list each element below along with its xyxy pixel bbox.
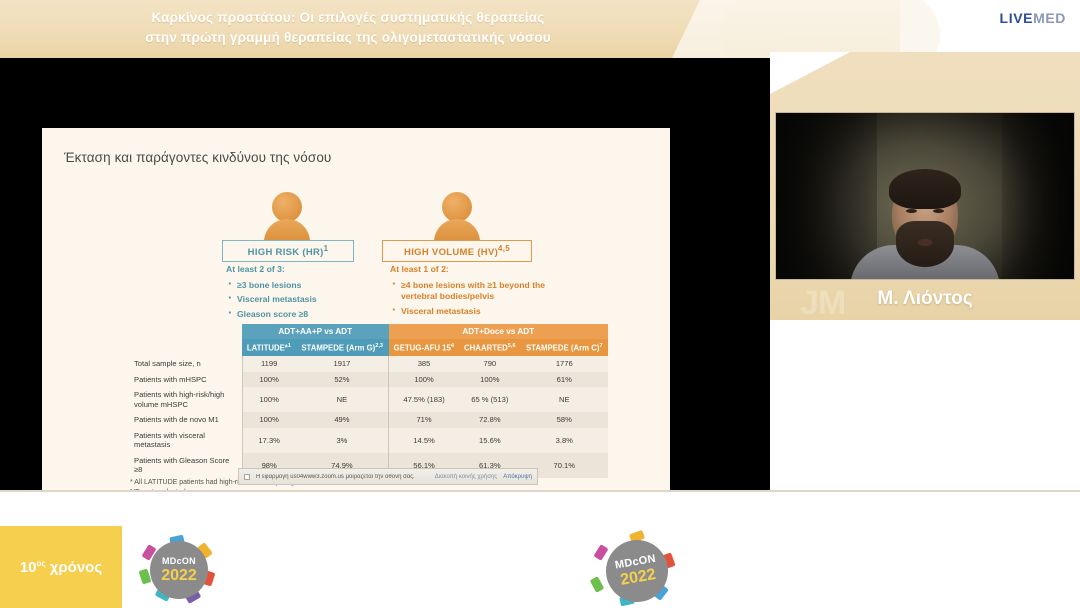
column-header-chaarted-label: CHAARTED xyxy=(464,344,508,353)
logo-tick-icon xyxy=(593,544,608,561)
table-cell: 1776 xyxy=(521,356,608,372)
column-header-chaarted-sup: 5,6 xyxy=(508,343,516,349)
event-banner: 10ος χρόνος MDcON 2022 MULTIDISCIPLINARY… xyxy=(0,526,1080,608)
person-head-icon xyxy=(442,192,472,222)
column-header-getug-afu-label: GETUG-AFU 15 xyxy=(394,344,451,353)
table-cell: 100% xyxy=(389,372,460,388)
presentation-title: Καρκίνος προστάτου: Οι επιλογές συστηματ… xyxy=(98,8,598,48)
mdcon-badge-name: MDcON xyxy=(162,557,196,566)
app-root: Καρκίνος προστάτου: Οι επιλογές συστηματ… xyxy=(0,0,1080,608)
table-cell: 1917 xyxy=(296,356,389,372)
table-cell: 49% xyxy=(296,412,389,428)
high-risk-criteria-list: ≥3 bone lesions Visceral metastasis Glea… xyxy=(226,280,376,321)
column-header-stampede-g-label: STAMPEDE (Arm G) xyxy=(301,344,375,353)
column-header-stampede-c: STAMPEDE (Arm C)7 xyxy=(521,339,608,356)
list-item: ≥4 bone lesions with ≥1 beyond the verte… xyxy=(390,280,555,303)
anniversary-word: χρόνος xyxy=(46,559,103,576)
table-cell: 385 xyxy=(389,356,460,372)
table-cell: 52% xyxy=(296,372,389,388)
high-risk-tag-sup: 1 xyxy=(324,244,329,253)
table-cell: 65 % (513) xyxy=(459,387,520,412)
high-volume-criteria: At least 1 of 2: ≥4 bone lesions with ≥1… xyxy=(390,264,555,320)
video-shadow-left xyxy=(776,113,877,279)
high-volume-criteria-list: ≥4 bone lesions with ≥1 beyond the verte… xyxy=(390,280,555,318)
table-cell: 72.8% xyxy=(459,412,520,428)
anniversary-number: 10 xyxy=(20,559,37,576)
livemed-logo-live: LIVE xyxy=(1000,10,1034,26)
table-row: Total sample size, n 1199 1917 385 790 1… xyxy=(130,356,608,372)
table-cell: 100% xyxy=(242,412,296,428)
table-cell: 58% xyxy=(521,412,608,428)
table-cell: 14.5% xyxy=(389,428,460,453)
anniversary-text: 10ος χρόνος xyxy=(20,559,102,576)
person-head-icon xyxy=(272,192,302,222)
table-cell: 100% xyxy=(459,372,520,388)
top-header-band: Καρκίνος προστάτου: Οι επιλογές συστηματ… xyxy=(0,0,1080,58)
table-cell: 1199 xyxy=(242,356,296,372)
column-header-getug-afu-sup: 4 xyxy=(451,343,454,349)
row-label: Patients with high-risk/high volume mHSP… xyxy=(130,387,242,412)
column-header-getug-afu: GETUG-AFU 154 xyxy=(389,339,460,356)
table-corner-cell-2 xyxy=(130,339,242,356)
table-row: Patients with visceral metastasis 17.3% … xyxy=(130,428,608,453)
table-row: Patients with mHSPC 100% 52% 100% 100% 6… xyxy=(130,372,608,388)
mdcon-badge-year: 2022 xyxy=(619,566,657,588)
stop-sharing-button[interactable]: Διακοπή κοινής χρήσης xyxy=(435,474,497,480)
group-header-adt-doce: ADT+Doce vs ADT xyxy=(389,324,608,339)
column-header-latitude: LATITUDE*1 xyxy=(242,339,296,356)
high-risk-tag: HIGH RISK (HR)1 xyxy=(222,240,354,262)
speaker-hair xyxy=(889,169,961,209)
comparison-table: ADT+AA+P vs ADT ADT+Doce vs ADT LATITUDE… xyxy=(130,324,608,478)
list-item: Gleason score ≥8 xyxy=(226,309,376,321)
high-volume-tag-sup: 4,5 xyxy=(498,244,510,253)
video-shadow-right xyxy=(1002,113,1074,279)
speaker-eye-left xyxy=(906,209,917,213)
table-cell: NE xyxy=(521,387,608,412)
high-risk-tag-label: HIGH RISK (HR) xyxy=(248,247,324,258)
row-label: Total sample size, n xyxy=(130,356,242,372)
speaker-name-label: Μ. Λιόντος xyxy=(775,288,1075,310)
table-sub-header-row: LATITUDE*1 STAMPEDE (Arm G)2,3 GETUG-AFU… xyxy=(130,339,608,356)
high-volume-person-icon xyxy=(434,192,480,243)
presentation-title-line-2: στην πρώτη γραμμή θεραπείας της ολιγομετ… xyxy=(98,28,598,48)
mdcon-logo-right: MDcON 2022 xyxy=(590,534,688,606)
presentation-title-line-1: Καρκίνος προστάτου: Οι επιλογές συστηματ… xyxy=(98,8,598,28)
speaker-video-tile[interactable] xyxy=(775,112,1075,280)
group-header-adt-aa-p: ADT+AA+P vs ADT xyxy=(242,324,389,339)
logo-tick-icon xyxy=(590,576,605,593)
table-cell: 17.3% xyxy=(242,428,296,453)
speaker-eye-right xyxy=(933,209,944,213)
high-risk-person-icon xyxy=(264,192,310,243)
hide-bar-button[interactable]: Απόκρυψη xyxy=(503,474,532,480)
list-item: Visceral metastasis xyxy=(390,306,555,318)
table-head: ADT+AA+P vs ADT ADT+Doce vs ADT LATITUDE… xyxy=(130,324,608,356)
table-cell: NE xyxy=(296,387,389,412)
anniversary-badge: 10ος χρόνος xyxy=(0,526,122,608)
anniversary-ordinal: ος xyxy=(37,559,46,568)
row-label: Patients with de novo M1 xyxy=(130,412,242,428)
slide-title: Έκταση και παράγοντες κινδύνου της νόσου xyxy=(64,150,331,165)
table-cell: 100% xyxy=(242,387,296,412)
table-row: Patients with high-risk/high volume mHSP… xyxy=(130,387,608,412)
share-indicator-icon xyxy=(244,474,250,480)
livemed-logo-med: MED xyxy=(1033,10,1066,26)
table-cell: 3% xyxy=(296,428,389,453)
table-cell: 790 xyxy=(459,356,520,372)
speaker-mouth xyxy=(918,239,933,246)
high-volume-tag: HIGH VOLUME (HV)4,5 xyxy=(382,240,532,262)
table-corner-cell xyxy=(130,324,242,339)
list-item: ≥3 bone lesions xyxy=(226,280,376,292)
screenshare-viewport: Έκταση και παράγοντες κινδύνου της νόσου… xyxy=(0,58,770,490)
separator-band xyxy=(0,490,1080,526)
zoom-screenshare-bar: Η εφαρμογή us04www3.zoom.us μοιράζεται τ… xyxy=(238,468,538,485)
column-header-chaarted: CHAARTED5,6 xyxy=(459,339,520,356)
table-group-header-row: ADT+AA+P vs ADT ADT+Doce vs ADT xyxy=(130,324,608,339)
high-risk-criteria: At least 2 of 3: ≥3 bone lesions Viscera… xyxy=(226,264,376,323)
table-cell: 15.6% xyxy=(459,428,520,453)
table-cell: 61% xyxy=(521,372,608,388)
column-header-stampede-c-label: STAMPEDE (Arm C) xyxy=(526,344,600,353)
table-cell: 47.5% (183) xyxy=(389,387,460,412)
list-item: Visceral metastasis xyxy=(226,294,376,306)
high-volume-tag-label: HIGH VOLUME (HV) xyxy=(404,247,498,258)
column-header-latitude-sup: 1 xyxy=(288,343,291,349)
table-cell: 100% xyxy=(242,372,296,388)
mdcon-logo-left: MDcON 2022 xyxy=(140,538,218,600)
row-label: Patients with visceral metastasis xyxy=(130,428,242,453)
separator-line xyxy=(0,490,1080,492)
table-body: Total sample size, n 1199 1917 385 790 1… xyxy=(130,356,608,478)
row-label: Patients with mHSPC xyxy=(130,372,242,388)
column-header-stampede-c-sup: 7 xyxy=(599,343,602,349)
column-header-stampede-g: STAMPEDE (Arm G)2,3 xyxy=(296,339,389,356)
table-row: Patients with de novo M1 100% 49% 71% 72… xyxy=(130,412,608,428)
table-cell: 3.8% xyxy=(521,428,608,453)
high-volume-criteria-heading: At least 1 of 2: xyxy=(390,264,555,276)
high-risk-criteria-heading: At least 2 of 3: xyxy=(226,264,376,276)
row-label: Patients with Gleason Score ≥8 xyxy=(130,453,242,478)
mdcon-badge-year: 2022 xyxy=(161,568,197,584)
livemed-logo: LIVEMED xyxy=(1000,10,1066,26)
column-header-latitude-label: LATITUDE* xyxy=(247,344,288,353)
column-header-stampede-g-sup: 2,3 xyxy=(375,343,383,349)
mdcon-badge-left: MDcON 2022 xyxy=(150,541,208,599)
share-message: Η εφαρμογή us04www3.zoom.us μοιράζεται τ… xyxy=(256,474,429,480)
table-cell: 71% xyxy=(389,412,460,428)
presentation-slide: Έκταση και παράγοντες κινδύνου της νόσου… xyxy=(42,128,670,548)
